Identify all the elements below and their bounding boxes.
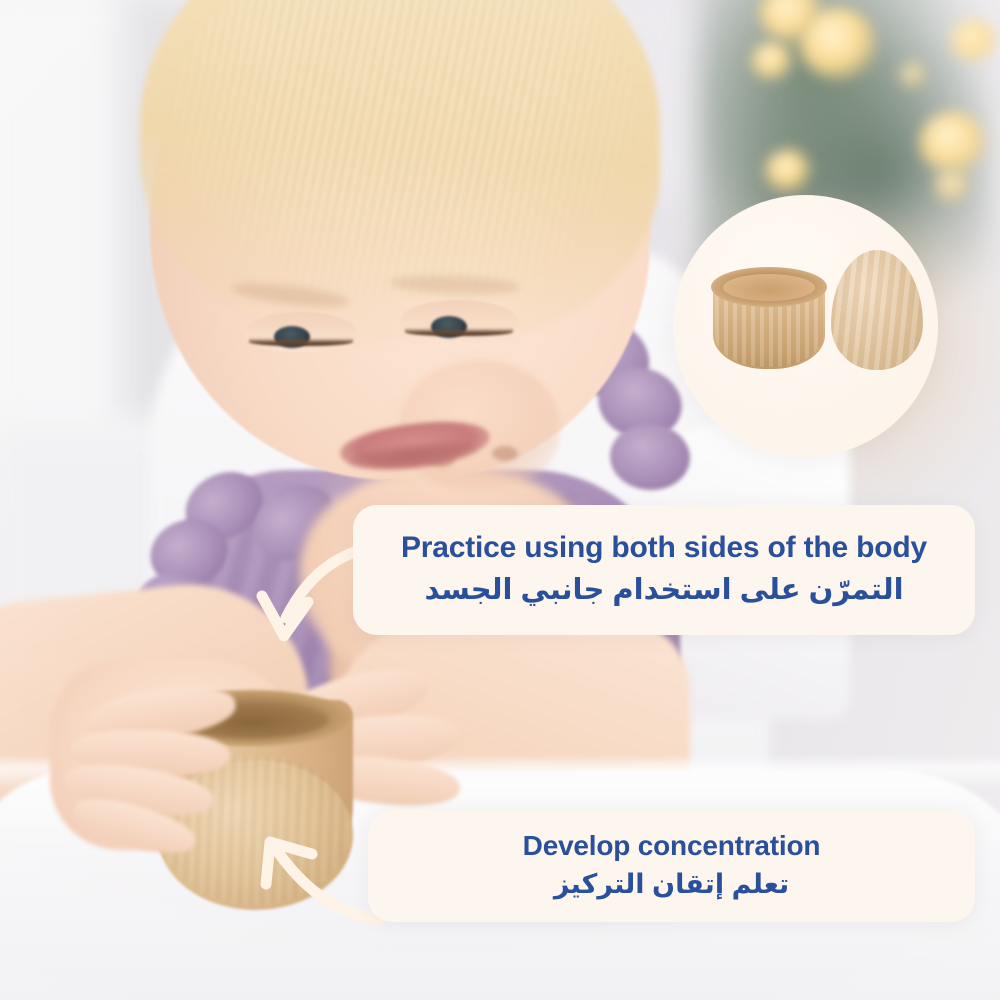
benefit-text-arabic: التمرّن على استخدام جانبي الجسد	[424, 573, 903, 608]
benefit-card-concentration[interactable]: Develop concentration تعلم إتقان التركيز	[368, 810, 975, 922]
eyelash	[249, 338, 352, 346]
baby-eye	[400, 300, 518, 342]
benefit-text-english: Practice using both sides of the body	[401, 532, 927, 564]
baby-eye	[245, 312, 357, 352]
baby-hair-strands	[170, 0, 640, 300]
product-inset[interactable]	[673, 195, 938, 457]
wooden-cup-icon	[709, 265, 829, 370]
cup-interior	[723, 274, 815, 301]
eyelash	[405, 328, 514, 336]
benefit-text-english: Develop concentration	[523, 831, 821, 861]
promo-image-canvas: Practice using both sides of the body ال…	[0, 0, 1000, 1000]
wooden-egg-grain	[831, 250, 923, 370]
benefit-card-practice[interactable]: Practice using both sides of the body ال…	[353, 505, 975, 635]
nostril	[492, 446, 518, 461]
benefit-text-arabic: تعلم إتقان التركيز	[554, 868, 789, 900]
